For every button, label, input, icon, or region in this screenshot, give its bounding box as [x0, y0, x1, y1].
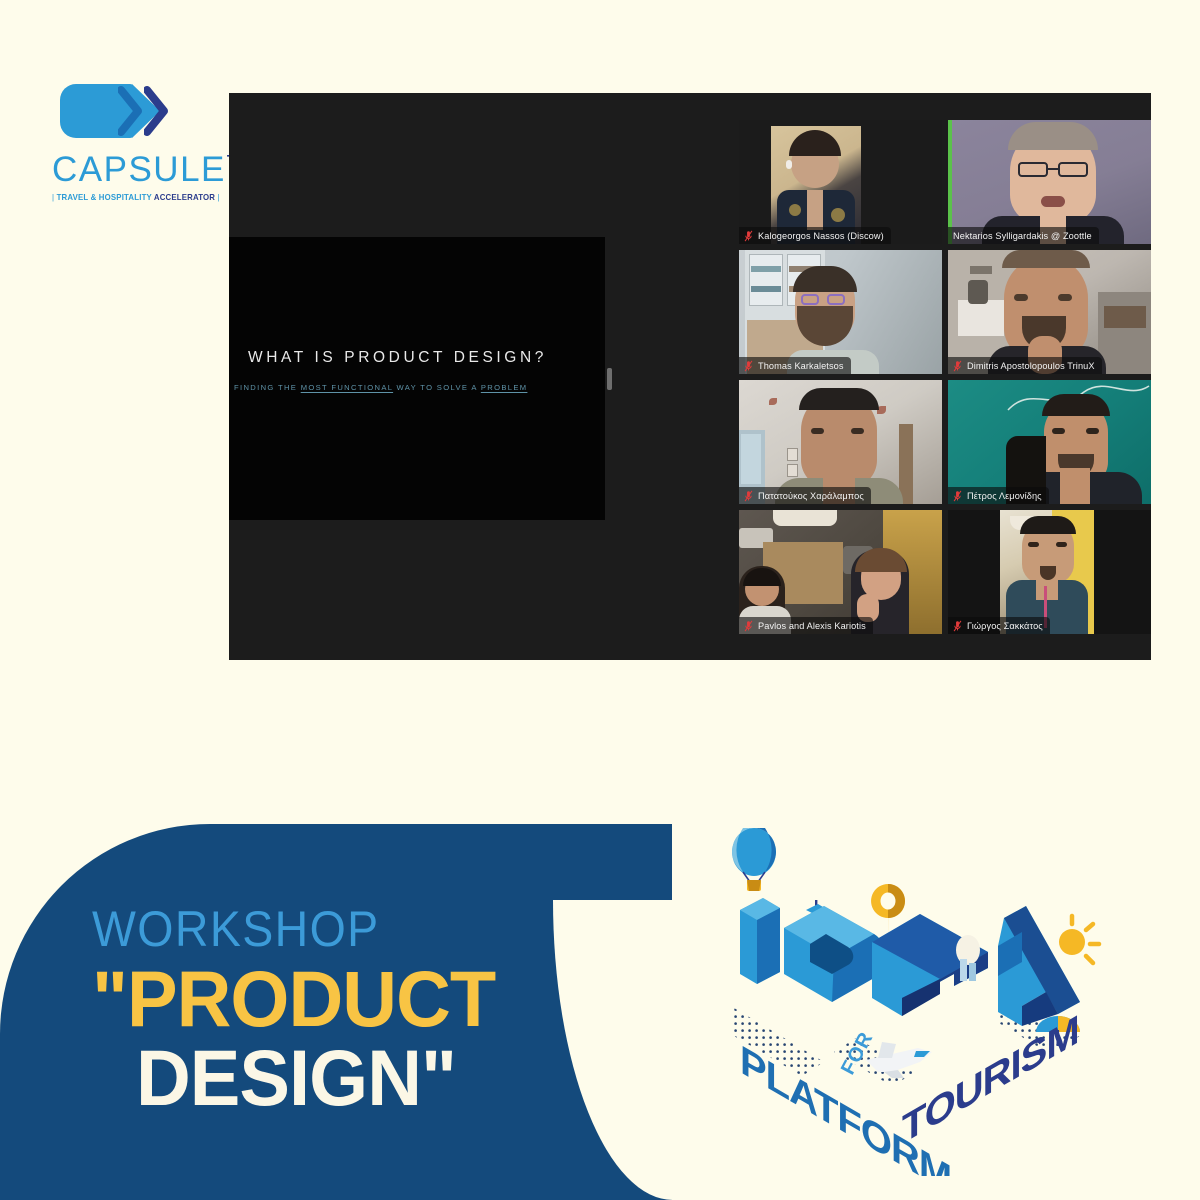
participant-name: Kalogeorgos Nassos (Discow) [758, 231, 884, 241]
chevron-right-icon-2 [144, 86, 172, 136]
banner-eyebrow: WORKSHOP [92, 904, 483, 954]
participant-tile[interactable]: Πέτρος Λεμονίδης [948, 380, 1151, 504]
share-divider-handle[interactable] [607, 368, 612, 390]
microphone-muted-icon [953, 620, 962, 632]
capsulet-logomark [60, 78, 190, 144]
microphone-muted-icon [744, 230, 753, 242]
tagline-main: TRAVEL & HOSPITALITY [57, 192, 152, 202]
slide-subtitle: FINDING THE MOST FUNCTIONAL WAY TO SOLVE… [234, 383, 527, 392]
video-feed [948, 380, 1151, 504]
participant-namebar: Γιώργος Σακκάτος [948, 617, 1050, 634]
participant-name: Πέτρος Λεμονίδης [967, 491, 1042, 501]
banner-title-line2: DESIGN" [136, 1040, 497, 1115]
participant-namebar: Dimitris Apostolopoulos TrinuX [948, 357, 1102, 374]
banner-text-block: WORKSHOP "PRODUCT DESIGN" [92, 904, 512, 1115]
video-feed [739, 120, 942, 244]
microphone-muted-icon [953, 490, 962, 502]
participant-namebar: Pavlos and Alexis Kariotis [739, 617, 873, 634]
participant-tile[interactable]: Thomas Karkaletsos [739, 250, 942, 374]
active-speaker-indicator [948, 120, 952, 244]
participant-tile[interactable]: Γιώργος Σακκάτος [948, 510, 1151, 634]
capsulet-tagline: | TRAVEL & HOSPITALITY ACCELERATOR | [52, 192, 190, 202]
slide-subtitle-u1: MOST FUNCTIONAL [301, 383, 393, 392]
microphone-muted-icon [953, 360, 962, 372]
participant-name: Γιώργος Σακκάτος [967, 621, 1043, 631]
hot-air-balloon-icon [732, 828, 776, 891]
svg-text:TOURISM: TOURISM [902, 1007, 1079, 1153]
participant-tile[interactable]: Πατατούκος Χαράλαμπος [739, 380, 942, 504]
participant-namebar: Πέτρος Λεμονίδης [948, 487, 1049, 504]
idea-logo-artwork: PLATFORM FOR TOURISM [706, 826, 1106, 1176]
video-feed [739, 510, 942, 634]
participant-tile[interactable]: Dimitris Apostolopoulos TrinuX [948, 250, 1151, 374]
microphone-muted-icon [744, 620, 753, 632]
sun-icon [1059, 916, 1099, 963]
participant-tile[interactable]: Kalogeorgos Nassos (Discow) [739, 120, 942, 244]
participant-name: Πατατούκος Χαράλαμπος [758, 491, 864, 501]
video-feed [739, 380, 942, 504]
participant-namebar: Nektarios Sylligardakis @ Zoottle [948, 227, 1099, 244]
letter-d-3d [784, 906, 886, 1002]
chevron-right-icon [118, 86, 146, 136]
video-feed [948, 250, 1151, 374]
poster-root: CAPSULET | TRAVEL & HOSPITALITY ACCELERA… [0, 0, 1200, 1200]
slide-subtitle-p1: FINDING THE [234, 383, 301, 392]
capsulet-logo: CAPSULET | TRAVEL & HOSPITALITY ACCELERA… [52, 78, 202, 223]
tagline-bar-right: | [217, 192, 219, 202]
microphone-muted-icon [744, 490, 753, 502]
tourism-text: TOURISM [902, 1007, 1079, 1153]
participant-tile-active[interactable]: Nektarios Sylligardakis @ Zoottle [948, 120, 1151, 244]
participant-namebar: Kalogeorgos Nassos (Discow) [739, 227, 891, 244]
participant-name: Dimitris Apostolopoulos TrinuX [967, 361, 1095, 371]
capsulet-wordmark-text: CAPSULE [52, 150, 226, 189]
capsulet-wordmark: CAPSULET [52, 152, 202, 187]
participant-tile[interactable]: Pavlos and Alexis Kariotis [739, 510, 942, 634]
workshop-banner: WORKSHOP "PRODUCT DESIGN" [0, 824, 672, 1200]
slide-title: WHAT IS PRODUCT DESIGN? [248, 349, 547, 367]
video-image [1000, 510, 1094, 634]
participant-name: Thomas Karkaletsos [758, 361, 844, 371]
banner-title-line1: "PRODUCT [92, 961, 495, 1036]
participant-grid: Kalogeorgos Nassos (Discow) Nektari [739, 120, 1151, 642]
slide-subtitle-u2: PROBLEM [481, 383, 528, 392]
participant-namebar: Πατατούκος Χαράλαμπος [739, 487, 871, 504]
video-feed [948, 120, 1151, 244]
video-feed [739, 250, 942, 374]
microphone-muted-icon [744, 360, 753, 372]
letter-i-3d [740, 898, 780, 984]
shared-screen-slide: WHAT IS PRODUCT DESIGN? FINDING THE MOST… [229, 237, 605, 520]
participant-namebar: Thomas Karkaletsos [739, 357, 851, 374]
zoom-meeting-panel: WHAT IS PRODUCT DESIGN? FINDING THE MOST… [229, 93, 1151, 660]
letter-a-3d [998, 906, 1080, 1026]
participant-name: Nektarios Sylligardakis @ Zoottle [953, 231, 1092, 241]
idea-platform-for-tourism-logo: PLATFORM FOR TOURISM [706, 826, 1106, 1176]
slide-subtitle-p2: WAY TO SOLVE A [393, 383, 481, 392]
video-feed [948, 510, 1151, 634]
participant-name: Pavlos and Alexis Kariotis [758, 621, 866, 631]
tagline-accent: ACCELERATOR [154, 192, 215, 202]
tagline-bar-left: | [52, 192, 54, 202]
